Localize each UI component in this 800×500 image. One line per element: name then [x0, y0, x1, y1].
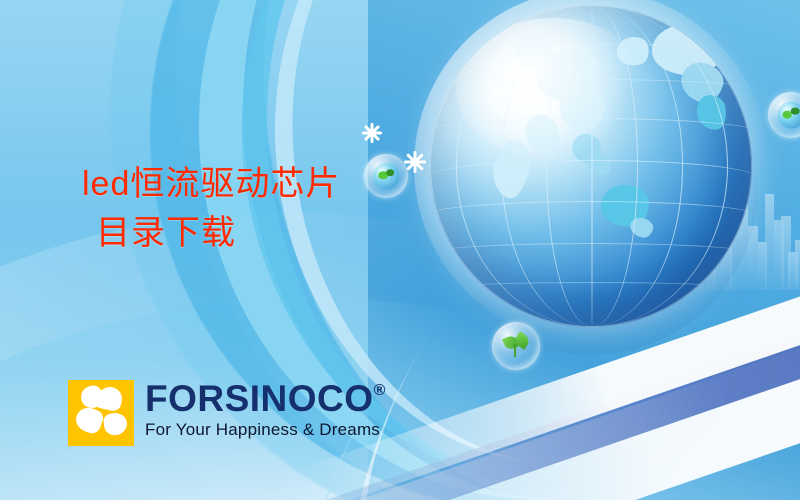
- logo-name: FORSINOCO: [145, 380, 374, 417]
- sparkle-upper-icon: [362, 122, 384, 144]
- headline-line-1: led恒流驱动芯片: [82, 165, 340, 203]
- company-logo: FORSINOCO ® For Your Happiness & Dreams: [68, 380, 386, 446]
- mini-globe-icon-right: [778, 102, 800, 129]
- logo-name-row: FORSINOCO ®: [145, 380, 386, 417]
- four-petal-flower-icon: [68, 380, 134, 446]
- logo-text-block: FORSINOCO ® For Your Happiness & Dreams: [145, 380, 386, 438]
- registered-trademark-icon: ®: [374, 383, 386, 399]
- green-leaf-icon: [502, 332, 530, 360]
- banner-image: led恒流驱动芯片 目录下载 FORSINOCO ® For Your Happ…: [0, 0, 800, 500]
- logo-tagline: For Your Happiness & Dreams: [145, 421, 386, 438]
- headline-text: led恒流驱动芯片 目录下载: [82, 160, 502, 259]
- headline-line-2: 目录下载: [82, 209, 502, 258]
- bubble-sprout: [492, 322, 540, 370]
